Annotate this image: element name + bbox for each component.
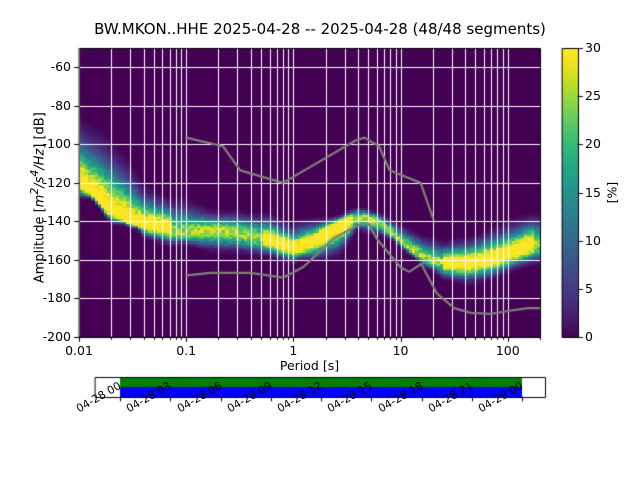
- x-tick-label: 0.01: [49, 343, 109, 358]
- y-tick-label: -160: [0, 252, 71, 267]
- y-tick-label: -180: [0, 290, 71, 305]
- colorbar-tick-label: 0: [585, 329, 593, 344]
- y-tick-label: -140: [0, 213, 71, 228]
- ppsd-figure: BW.MKON..HHE 2025-04-28 -- 2025-04-28 (4…: [0, 0, 640, 480]
- x-tick-label: 10: [371, 343, 431, 358]
- y-tick-label: -200: [0, 329, 71, 344]
- colorbar-tick-label: 10: [585, 233, 601, 248]
- x-tick-label: 1: [263, 343, 323, 358]
- x-tick-label: 100: [478, 343, 538, 358]
- x-axis-label: Period [s]: [79, 358, 540, 373]
- y-tick-label: -80: [0, 98, 71, 113]
- y-tick-label: -100: [0, 136, 71, 151]
- y-tick-label: -120: [0, 175, 71, 190]
- colorbar-tick-label: 30: [585, 40, 601, 55]
- page-title: BW.MKON..HHE 2025-04-28 -- 2025-04-28 (4…: [0, 20, 640, 38]
- colorbar-label: [%]: [605, 143, 620, 243]
- ppsd-plot-canvas: [0, 0, 640, 480]
- colorbar-tick-label: 25: [585, 88, 601, 103]
- colorbar-tick-label: 20: [585, 136, 601, 151]
- x-tick-label: 0.1: [156, 343, 216, 358]
- colorbar-tick-label: 15: [585, 185, 601, 200]
- y-tick-label: -60: [0, 59, 71, 74]
- colorbar-tick-label: 5: [585, 281, 593, 296]
